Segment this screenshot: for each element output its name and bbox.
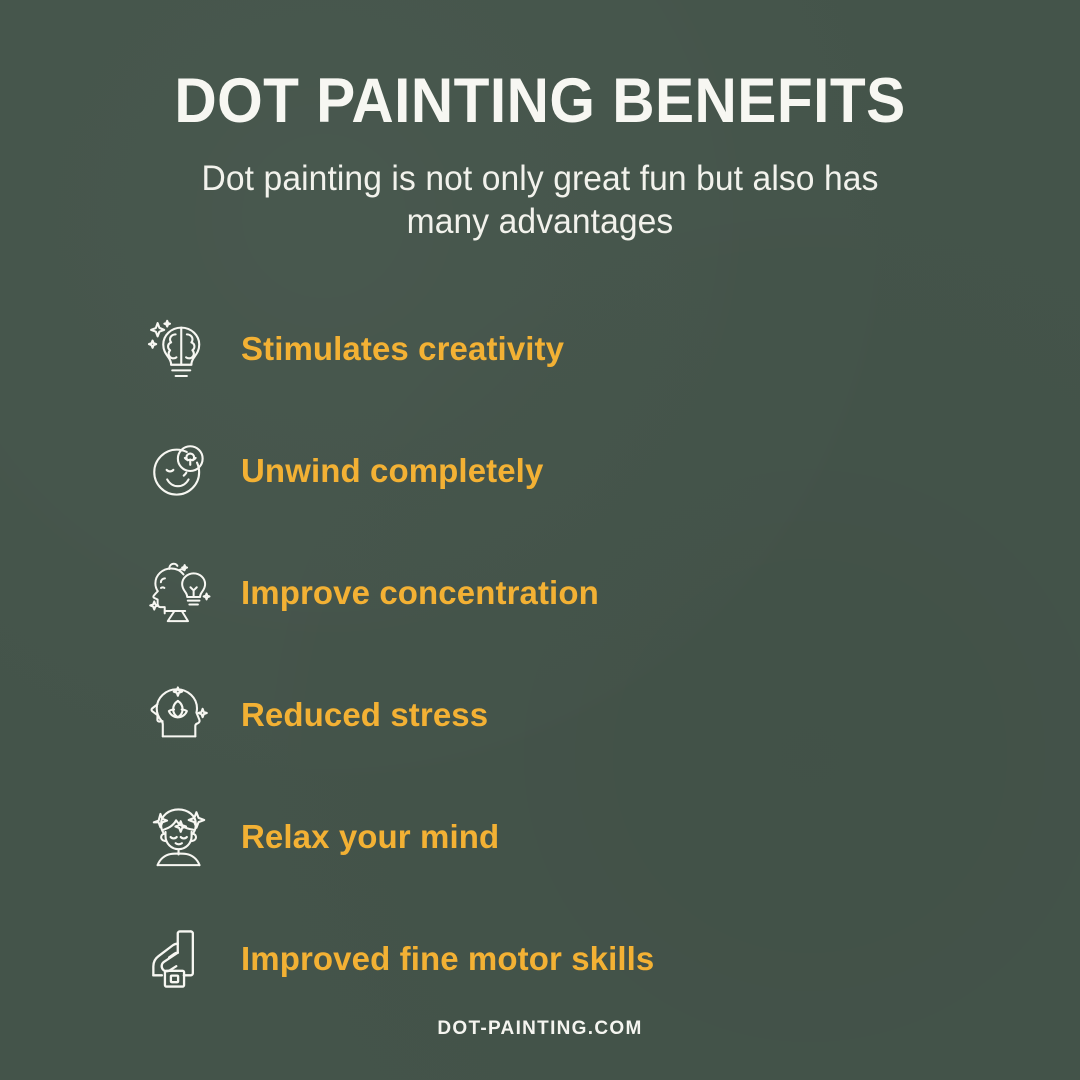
list-item: Improved fine motor skills — [143, 898, 1080, 1020]
page-title: DOT PAINTING BENEFITS — [38, 68, 1042, 135]
benefits-list: Stimulates creativity Unwind completely — [0, 288, 1080, 1020]
brain-lightbulb-icon — [143, 313, 215, 385]
benefit-label: Improve concentration — [241, 574, 599, 612]
head-lightbulb-icon — [143, 557, 215, 629]
head-lotus-icon — [143, 679, 215, 751]
meditating-face-icon — [143, 801, 215, 873]
benefit-label: Unwind completely — [241, 452, 543, 490]
list-item: Relax your mind — [143, 776, 1080, 898]
list-item: Stimulates creativity — [143, 288, 1080, 410]
list-item: Improve concentration — [143, 532, 1080, 654]
poster-footer: DOT-PAINTING.COM — [0, 1018, 1080, 1040]
benefit-label: Improved fine motor skills — [241, 940, 654, 978]
benefit-label: Relax your mind — [241, 818, 499, 856]
website-url: DOT-PAINTING.COM — [437, 1018, 642, 1039]
smiley-flower-icon — [143, 435, 215, 507]
list-item: Reduced stress — [143, 654, 1080, 776]
poster: DOT PAINTING BENEFITS Dot painting is no… — [0, 0, 1080, 1080]
poster-header: DOT PAINTING BENEFITS Dot painting is no… — [0, 0, 1080, 244]
list-item: Unwind completely — [143, 410, 1080, 532]
benefit-label: Reduced stress — [241, 696, 488, 734]
page-subtitle: Dot painting is not only great fun but a… — [170, 157, 909, 244]
benefit-label: Stimulates creativity — [241, 330, 564, 368]
hand-block-icon — [143, 923, 215, 995]
